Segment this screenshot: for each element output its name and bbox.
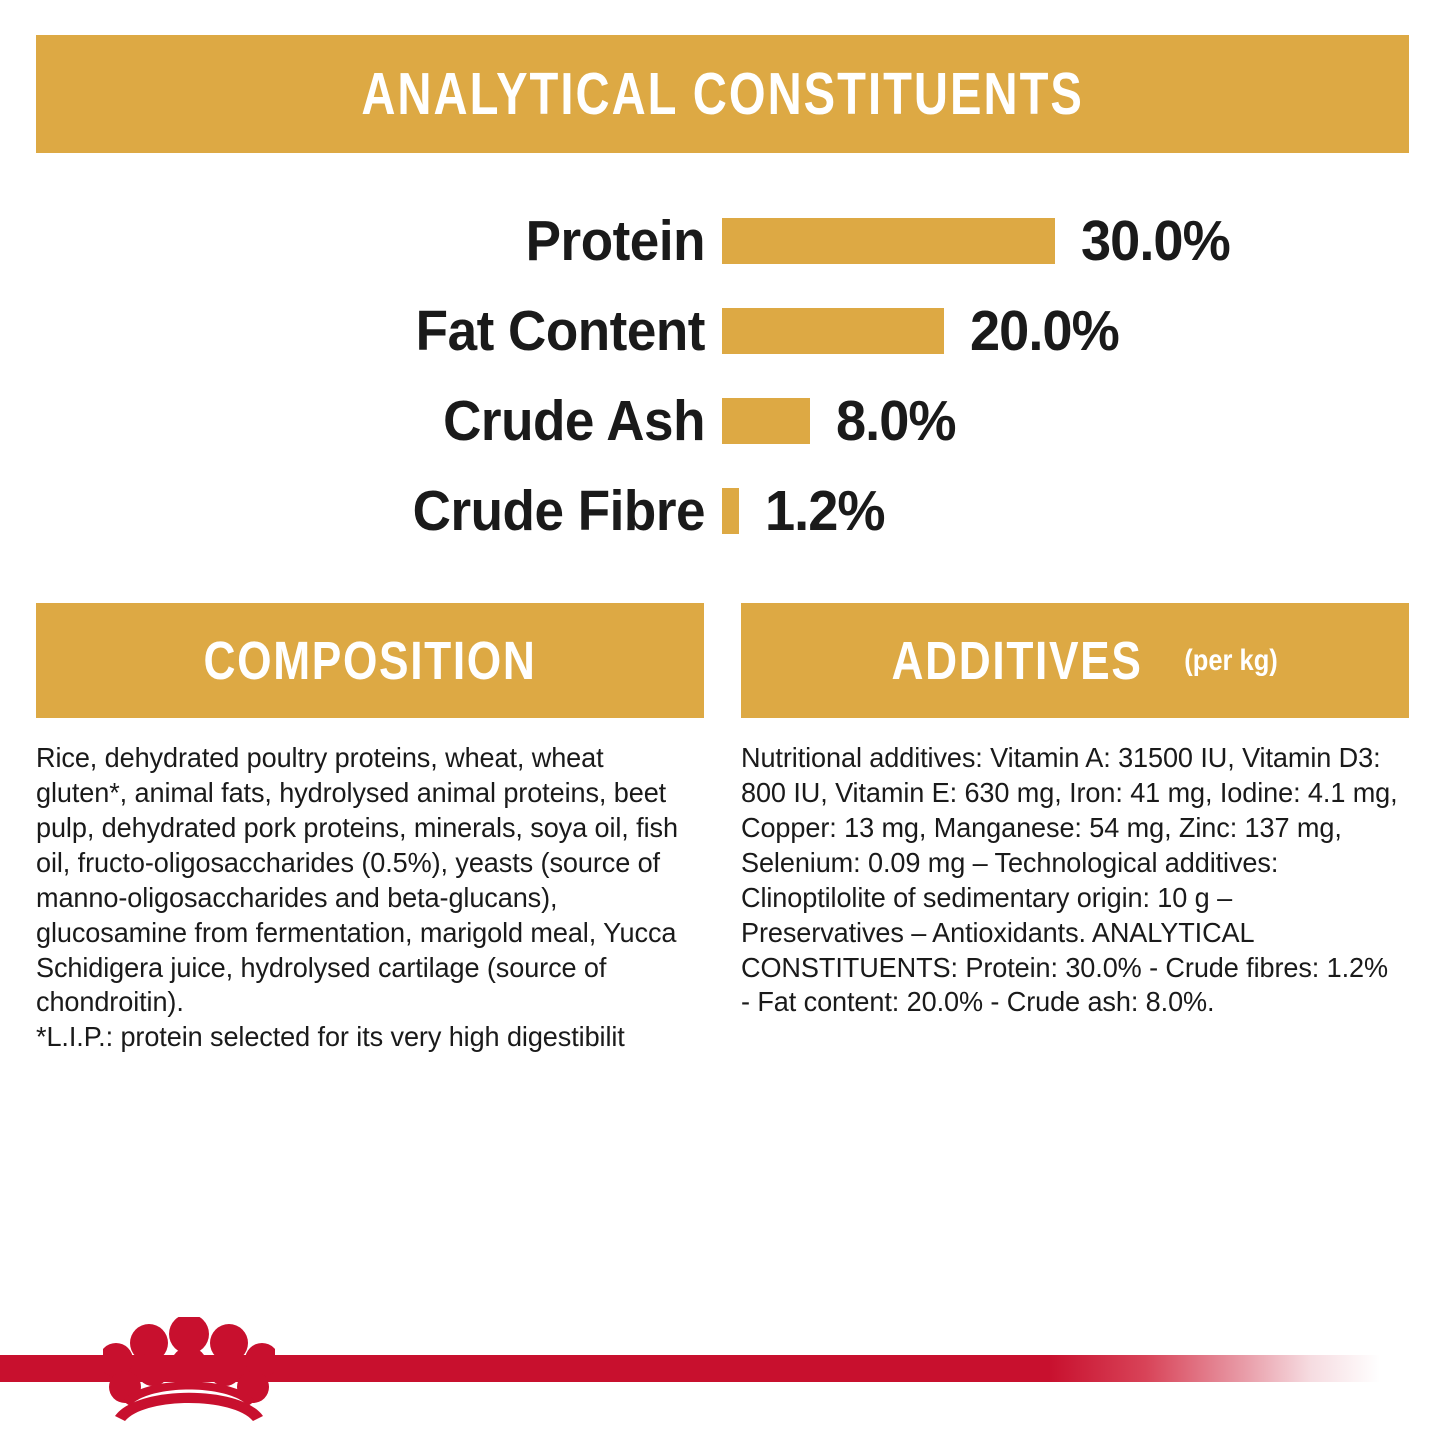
- composition-body: Rice, dehydrated poultry proteins, wheat…: [36, 741, 694, 1055]
- additives-heading-unit-label: (per kg): [1184, 646, 1278, 676]
- nutrient-label: Crude Fibre: [147, 483, 705, 540]
- page-title: ANALYTICAL CONSTITUENTS: [361, 65, 1084, 124]
- analytical-constituents-banner: ANALYTICAL CONSTITUENTS: [36, 35, 1409, 153]
- nutrient-bar: [722, 308, 944, 354]
- additives-header: ADDITIVES (per kg): [741, 603, 1409, 718]
- royal-canin-crown-logo: [103, 1317, 275, 1422]
- composition-heading-label: COMPOSITION: [204, 634, 537, 688]
- additives-column: ADDITIVES (per kg) Nutritional additives…: [741, 603, 1409, 1055]
- nutrient-bar: [722, 488, 739, 534]
- nutrient-value: 20.0%: [970, 303, 1119, 360]
- nutrient-bar: [722, 218, 1055, 264]
- nutrient-row-protein: Protein 30.0%: [0, 196, 1445, 286]
- nutrient-bar-group: 8.0%: [722, 393, 962, 450]
- composition-header: COMPOSITION: [36, 603, 704, 718]
- composition-column: COMPOSITION Rice, dehydrated poultry pro…: [36, 603, 704, 1055]
- additives-body: Nutritional additives: Vitamin A: 31500 …: [741, 741, 1399, 1020]
- nutrient-label: Fat Content: [147, 303, 705, 360]
- composition-ingredients-text: Rice, dehydrated poultry proteins, wheat…: [36, 741, 694, 1020]
- nutrient-value: 1.2%: [765, 483, 885, 540]
- nutrient-bar-group: 1.2%: [722, 483, 891, 540]
- nutrient-row-crude-ash: Crude Ash 8.0%: [0, 376, 1445, 466]
- nutrient-row-crude-fibre: Crude Fibre 1.2%: [0, 466, 1445, 556]
- nutrient-bar-group: 20.0%: [722, 303, 1127, 360]
- nutrient-bar-group: 30.0%: [722, 213, 1238, 270]
- brand-footer: [0, 1352, 1445, 1445]
- detail-columns: COMPOSITION Rice, dehydrated poultry pro…: [36, 603, 1409, 1055]
- nutrient-row-fat-content: Fat Content 20.0%: [0, 286, 1445, 376]
- nutrition-panel: ANALYTICAL CONSTITUENTS Protein 30.0% Fa…: [0, 0, 1445, 1445]
- additives-heading-label: ADDITIVES: [892, 634, 1143, 688]
- nutrient-value: 8.0%: [836, 393, 956, 450]
- nutrient-label: Crude Ash: [147, 393, 705, 450]
- composition-footnote-text: *L.I.P.: protein selected for its very h…: [36, 1020, 694, 1055]
- nutrient-label: Protein: [147, 213, 705, 270]
- analytical-constituents-chart: Protein 30.0% Fat Content 20.0% Crude As…: [0, 196, 1445, 556]
- nutrient-value: 30.0%: [1081, 213, 1230, 270]
- nutrient-bar: [722, 398, 810, 444]
- additives-text: Nutritional additives: Vitamin A: 31500 …: [741, 741, 1399, 1020]
